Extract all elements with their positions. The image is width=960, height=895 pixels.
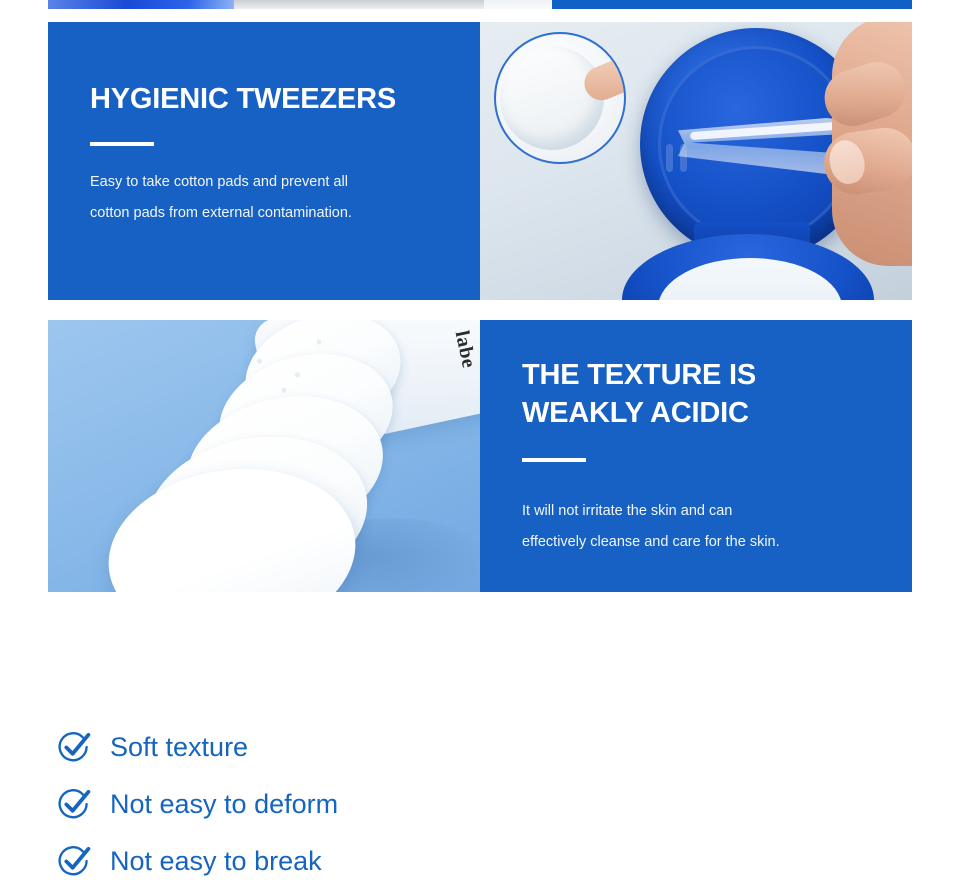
inset-cotton-pad-graphic — [500, 46, 604, 150]
list-item: Not easy to deform — [56, 775, 576, 832]
feature-title: HYGIENIC TWEEZERS — [90, 80, 456, 118]
remnant-blue-swatch — [48, 0, 234, 9]
feature-copy-inner: HYGIENIC TWEEZERS Easy to take cotton pa… — [90, 80, 456, 229]
list-item: Not easy to break — [56, 832, 576, 889]
feature-description: Easy to take cotton pads and prevent all… — [90, 167, 456, 229]
feature-photo-cotton-pads: labe — [48, 320, 480, 592]
benefit-label: Soft texture — [110, 730, 248, 764]
benefit-label: Not easy to break — [110, 844, 322, 878]
benefits-list: Soft texture Not easy to deform Not easy… — [56, 718, 576, 889]
check-circle-icon — [56, 729, 92, 765]
title-underline-rule — [522, 458, 586, 462]
remnant-photo-edge — [234, 0, 484, 9]
feature-section-hygienic-tweezers: HYGIENIC TWEEZERS Easy to take cotton pa… — [48, 22, 912, 300]
title-underline-rule — [90, 142, 154, 146]
remnant-blue-bar — [552, 0, 912, 9]
feature-title: THE TEXTURE IS WEAKLY ACIDIC — [522, 356, 888, 432]
check-circle-icon — [56, 786, 92, 822]
feature-description: It will not irritate the skin and can ef… — [522, 496, 888, 558]
feature-copy-inner: THE TEXTURE IS WEAKLY ACIDIC It will not… — [522, 356, 888, 558]
product-feature-page: HYGIENIC TWEEZERS Easy to take cotton pa… — [0, 0, 960, 895]
previous-section-remnant — [0, 0, 960, 9]
check-circle-icon — [56, 843, 92, 879]
feature-copy-panel: THE TEXTURE IS WEAKLY ACIDIC It will not… — [480, 320, 912, 592]
benefit-label: Not easy to deform — [110, 787, 338, 821]
feature-copy-panel: HYGIENIC TWEEZERS Easy to take cotton pa… — [48, 22, 480, 300]
lid-vent-slot-icon — [666, 144, 673, 172]
feature-section-weakly-acidic: labe THE TEXTURE IS WEAKLY ACIDIC It wil… — [48, 320, 912, 592]
list-item: Soft texture — [56, 718, 576, 775]
feature-photo-hygienic-tweezers — [480, 22, 912, 300]
inset-closeup-circle — [494, 32, 626, 164]
remnant-white-gap — [484, 0, 552, 9]
